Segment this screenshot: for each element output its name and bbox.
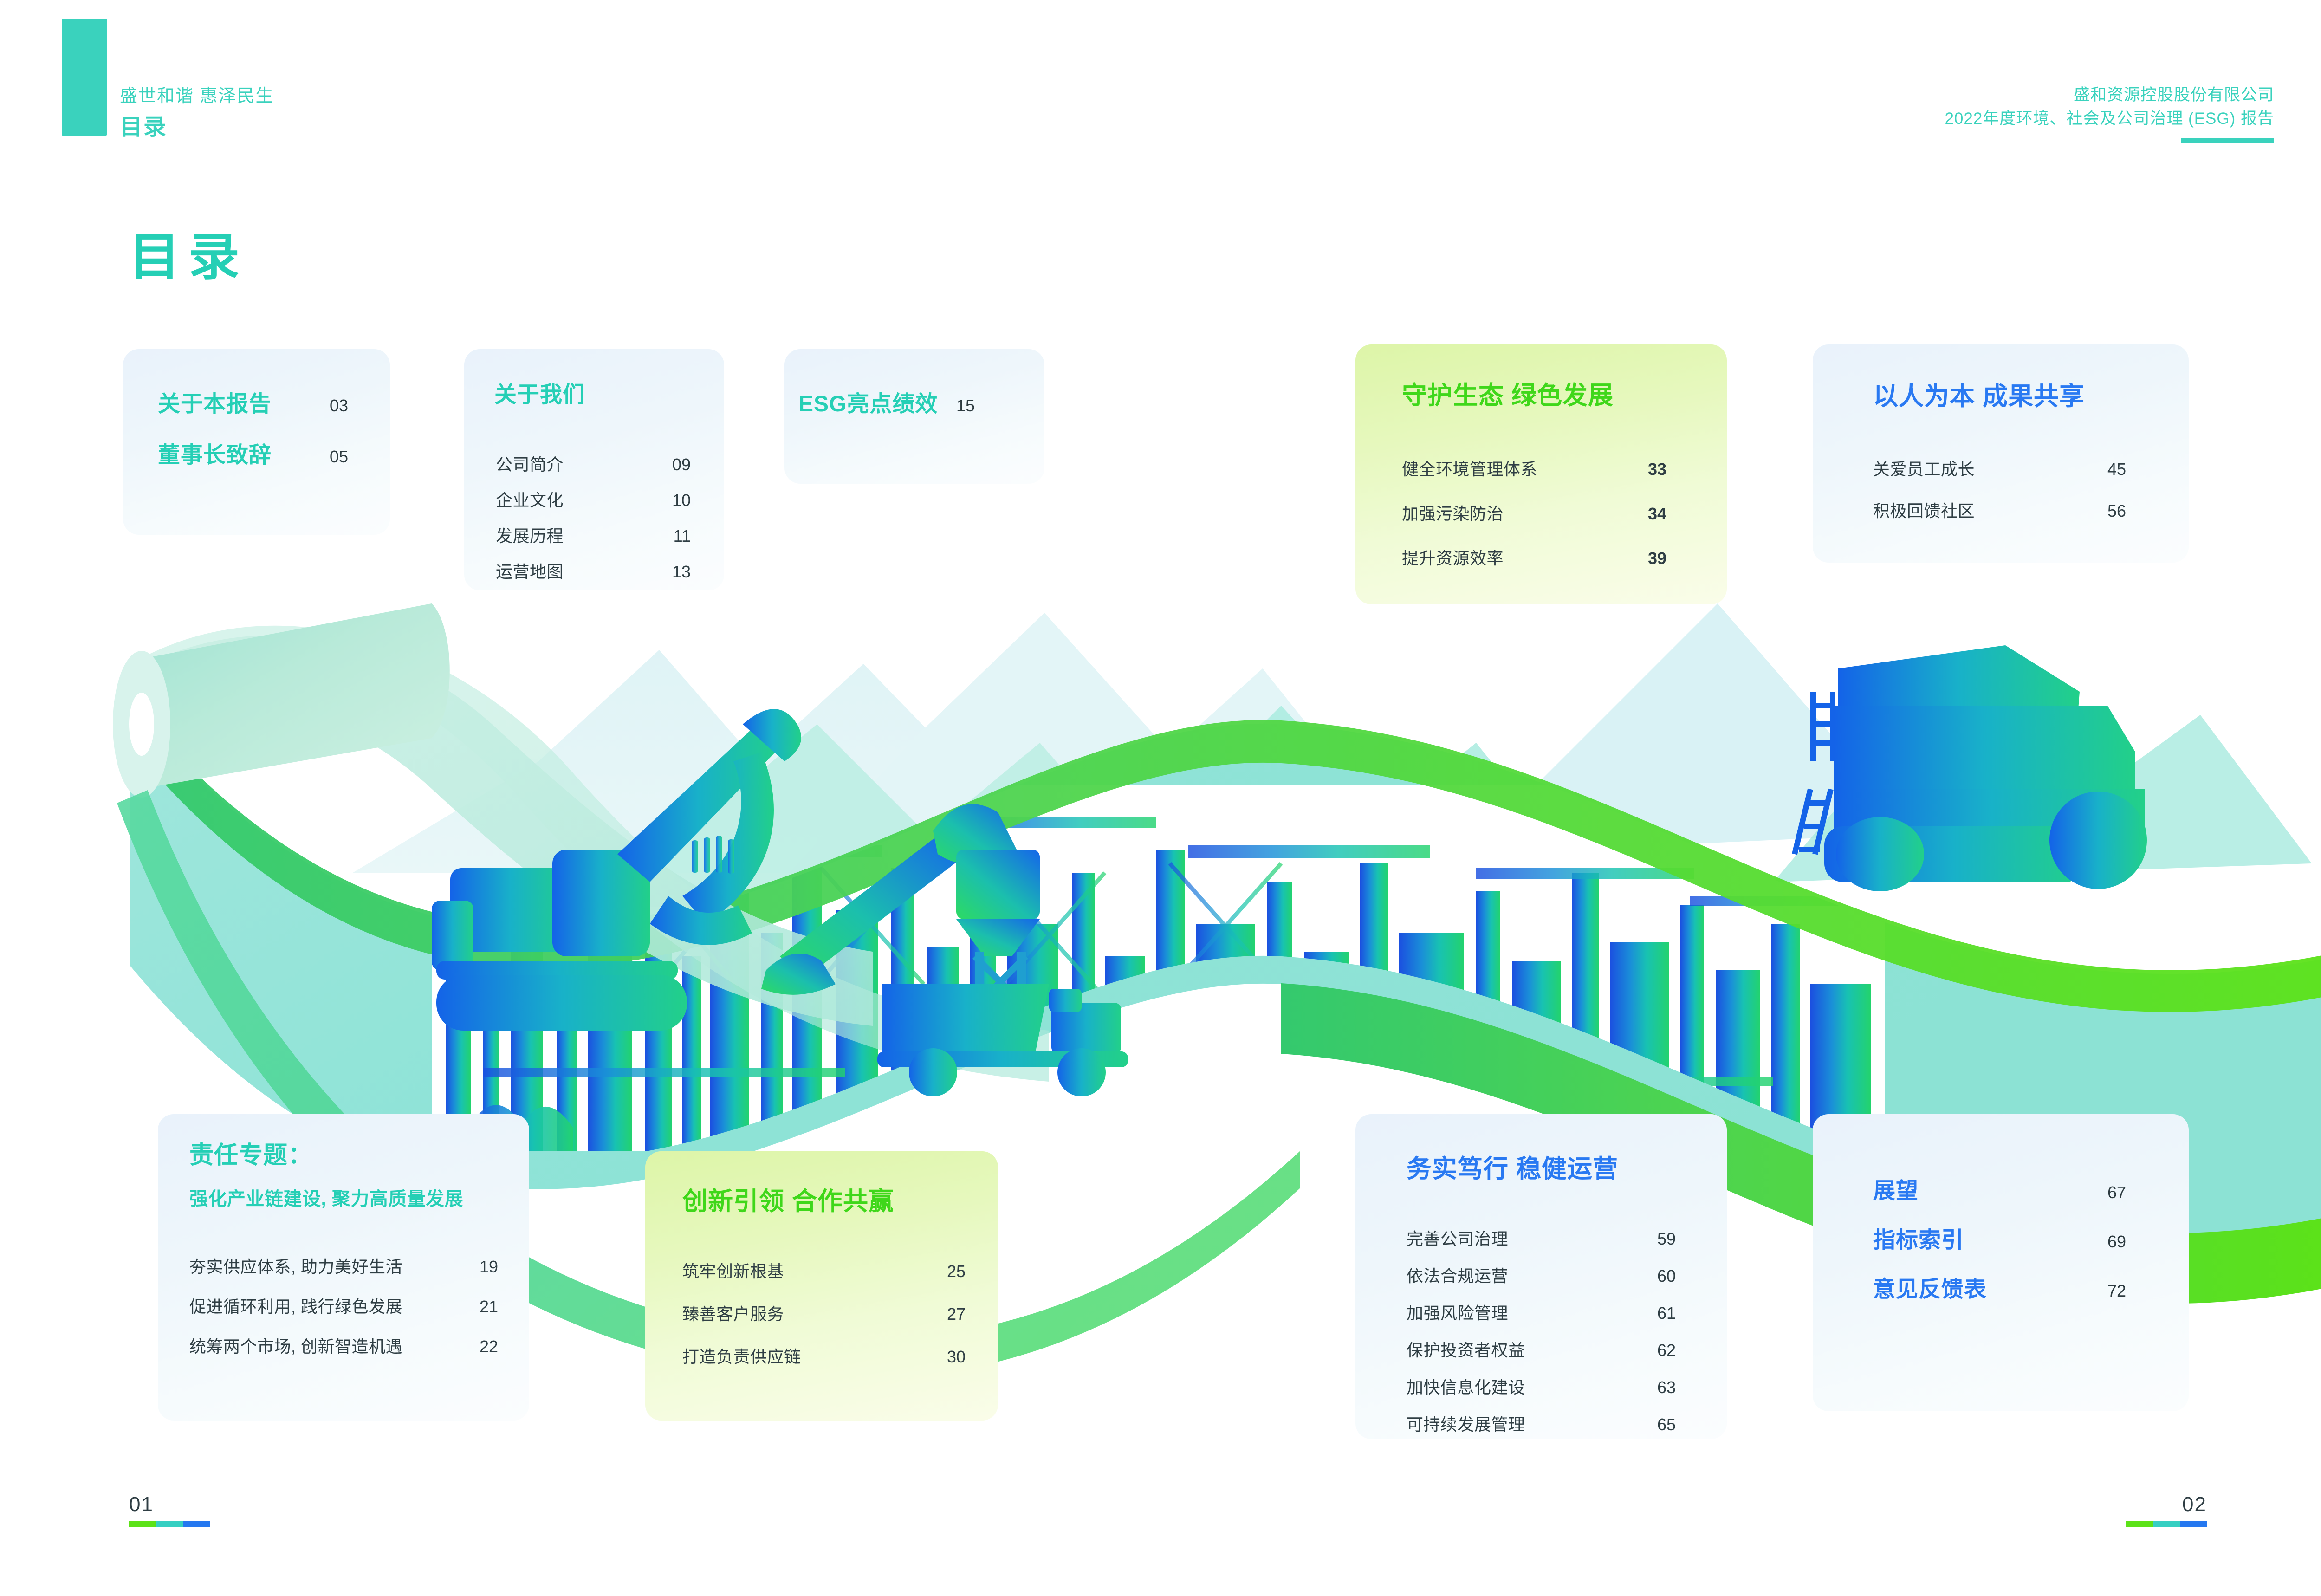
entry-list: 健全环境管理体系 33 加强污染防治 34 提升资源效率 39 bbox=[1402, 456, 1676, 569]
entry-page: 25 bbox=[910, 1262, 966, 1281]
header-kicker: 盛世和谐 惠泽民生 bbox=[120, 87, 274, 105]
entry-page: 63 bbox=[1620, 1378, 1676, 1397]
toc-entry[interactable]: 保护投资者权益 62 bbox=[1407, 1337, 1676, 1361]
entry-title: 提升资源效率 bbox=[1402, 545, 1615, 569]
toc-entry[interactable]: 健全环境管理体系 33 bbox=[1402, 456, 1676, 480]
toc-entry[interactable]: 筑牢创新根基 25 bbox=[682, 1258, 966, 1282]
toc-card-outlook[interactable]: 展望 67 指标索引 69 意见反馈表 72 bbox=[1813, 1114, 2189, 1411]
entry-list: 筑牢创新根基 25 臻善客户服务 27 打造负责供应链 30 bbox=[682, 1258, 966, 1368]
toc-page: 盛世和谐 惠泽民生 目录 盛和资源控股股份有限公司 2022年度环境、社会及公司… bbox=[0, 0, 2321, 1596]
running-header-right: 盛和资源控股股份有限公司 2022年度环境、社会及公司治理 (ESG) 报告 bbox=[1945, 84, 2274, 143]
header-section-name: 目录 bbox=[120, 116, 274, 139]
toc-entry[interactable]: 关爱员工成长 45 bbox=[1873, 456, 2126, 480]
entry-page: 60 bbox=[1620, 1266, 1676, 1286]
entry-page: 33 bbox=[1615, 460, 1666, 479]
toc-entry[interactable]: 发展历程 11 bbox=[496, 523, 695, 547]
entry-title: 董事长致辞 bbox=[158, 436, 297, 469]
toc-entry[interactable]: 企业文化 10 bbox=[496, 487, 695, 511]
toc-card-about-report[interactable]: 关于本报告 03 董事长致辞 05 bbox=[123, 349, 390, 535]
toc-entry[interactable]: 依法合规运营 60 bbox=[1407, 1263, 1676, 1287]
dump-truck-icon bbox=[877, 984, 1128, 1096]
entry-list: 完善公司治理 59 依法合规运营 60 加强风险管理 61 保护投资者权益 62… bbox=[1407, 1226, 1676, 1435]
card-title: 务实笃行 稳健运营 bbox=[1407, 1155, 1618, 1183]
page-title: 目录 bbox=[129, 232, 248, 283]
header-underline bbox=[2181, 138, 2274, 143]
entry-page: 27 bbox=[910, 1304, 966, 1324]
folio-color-bar bbox=[2126, 1521, 2207, 1527]
entry-page: 65 bbox=[1620, 1415, 1676, 1434]
page-number: 02 bbox=[2126, 1494, 2207, 1515]
toc-entry[interactable]: 臻善客户服务 27 bbox=[682, 1301, 966, 1325]
card-title: 关于我们 bbox=[494, 383, 585, 408]
entry-page: 69 bbox=[2068, 1232, 2126, 1252]
entry-title: 企业文化 bbox=[496, 487, 640, 511]
toc-card-people-first[interactable]: 以人为本 成果共享 关爱员工成长 45 积极回馈社区 56 bbox=[1813, 344, 2189, 563]
entry-list: 夯实供应体系, 助力美好生活 19 促进循环利用, 践行绿色发展 21 统筹两个… bbox=[189, 1253, 498, 1357]
entry-page: 13 bbox=[640, 562, 691, 582]
entry-title: 统筹两个市场, 创新智造机遇 bbox=[189, 1333, 449, 1357]
entry-title: 保护投资者权益 bbox=[1407, 1337, 1620, 1361]
entry-title: 关于本报告 bbox=[158, 385, 297, 418]
entry-title: 运营地图 bbox=[496, 558, 640, 583]
entry-page: 45 bbox=[2068, 460, 2126, 479]
running-header-left: 盛世和谐 惠泽民生 目录 bbox=[120, 87, 274, 139]
entry-title: 加快信息化建设 bbox=[1407, 1374, 1620, 1398]
toc-entry[interactable]: 指标索引 69 bbox=[1873, 1221, 2126, 1254]
entry-page: 11 bbox=[640, 526, 691, 546]
entry-title: 加强污染防治 bbox=[1402, 500, 1615, 525]
toc-entry[interactable]: 董事长致辞 05 bbox=[158, 436, 357, 469]
entry-title: 加强风险管理 bbox=[1407, 1300, 1620, 1324]
entry-page: 59 bbox=[1620, 1229, 1676, 1249]
toc-card-responsibility-topic[interactable]: 责任专题： 强化产业链建设, 聚力高质量发展 夯实供应体系, 助力美好生活 19… bbox=[158, 1114, 529, 1421]
entry-page: 67 bbox=[2068, 1183, 2126, 1202]
toc-entry[interactable]: 展望 67 bbox=[1873, 1172, 2126, 1205]
card-subtitle: 强化产业链建设, 聚力高质量发展 bbox=[189, 1184, 463, 1211]
toc-entry[interactable]: 运营地图 13 bbox=[496, 558, 695, 583]
entry-title: 可持续发展管理 bbox=[1407, 1411, 1620, 1435]
entry-page: 15 bbox=[956, 396, 998, 415]
toc-entry[interactable]: 意见反馈表 72 bbox=[1873, 1271, 2126, 1303]
entry-title: 筑牢创新根基 bbox=[682, 1258, 910, 1282]
card-title: 责任专题： bbox=[189, 1142, 312, 1169]
entry-title: ESG亮点绩效 bbox=[798, 385, 956, 418]
entry-list: 关爱员工成长 45 积极回馈社区 56 bbox=[1873, 456, 2126, 522]
card-title: 创新引领 合作共赢 bbox=[682, 1187, 894, 1215]
entry-page: 30 bbox=[910, 1347, 966, 1367]
toc-card-innovation-winwin[interactable]: 创新引领 合作共赢 筑牢创新根基 25 臻善客户服务 27 打造负责供应链 30 bbox=[645, 1151, 998, 1421]
entry-page: 39 bbox=[1615, 549, 1666, 568]
entry-page: 10 bbox=[640, 491, 691, 510]
entry-title: 健全环境管理体系 bbox=[1402, 456, 1615, 480]
toc-card-about-us[interactable]: 关于我们 公司简介 09 企业文化 10 发展历程 11 运营地图 13 企业荣… bbox=[464, 349, 724, 590]
folio-color-bar bbox=[129, 1521, 210, 1527]
entry-title: 关爱员工成长 bbox=[1873, 456, 2068, 480]
entry-title: 积极回馈社区 bbox=[1873, 498, 2068, 522]
entry-page: 03 bbox=[297, 396, 348, 415]
entry-list: ESG亮点绩效 15 bbox=[798, 385, 1031, 418]
entry-list: 公司简介 09 企业文化 10 发展历程 11 运营地图 13 企业荣誉 14 bbox=[496, 451, 695, 590]
card-title: 守护生态 绿色发展 bbox=[1402, 382, 1614, 409]
entry-title: 打造负责供应链 bbox=[682, 1343, 910, 1368]
entry-title: 意见反馈表 bbox=[1873, 1271, 2068, 1303]
excavator-icon bbox=[432, 709, 801, 1031]
entry-title: 完善公司治理 bbox=[1407, 1226, 1620, 1250]
entry-title: 依法合规运营 bbox=[1407, 1263, 1620, 1287]
entry-title: 夯实供应体系, 助力美好生活 bbox=[189, 1253, 449, 1278]
toc-entry[interactable]: 加强风险管理 61 bbox=[1407, 1300, 1676, 1324]
footer-page-left: 01 bbox=[129, 1494, 210, 1527]
entry-title: 指标索引 bbox=[1873, 1221, 2068, 1254]
entry-title: 公司简介 bbox=[496, 451, 640, 475]
mining-haul-truck-icon bbox=[1795, 645, 2147, 891]
entry-page: 22 bbox=[449, 1337, 498, 1356]
toc-entry[interactable]: 公司简介 09 bbox=[496, 451, 695, 475]
toc-entry[interactable]: ESG亮点绩效 15 bbox=[798, 385, 1031, 418]
entry-title: 促进循环利用, 践行绿色发展 bbox=[189, 1293, 449, 1317]
toc-entry[interactable]: 夯实供应体系, 助力美好生活 19 bbox=[189, 1253, 498, 1278]
toc-entry[interactable]: 打造负责供应链 30 bbox=[682, 1343, 966, 1368]
toc-card-esg-highlights[interactable]: ESG亮点绩效 15 bbox=[784, 349, 1044, 484]
toc-entry[interactable]: 促进循环利用, 践行绿色发展 21 bbox=[189, 1293, 498, 1317]
toc-entry[interactable]: 统筹两个市场, 创新智造机遇 22 bbox=[189, 1333, 498, 1357]
header-company-name: 盛和资源控股股份有限公司 bbox=[1945, 84, 2274, 107]
footer-page-right: 02 bbox=[2126, 1494, 2207, 1527]
header-accent-bar bbox=[62, 19, 107, 136]
entry-page: 21 bbox=[449, 1297, 498, 1317]
toc-entry[interactable]: 加强污染防治 34 bbox=[1402, 500, 1676, 525]
toc-entry[interactable]: 可持续发展管理 65 bbox=[1407, 1411, 1676, 1435]
entry-page: 09 bbox=[640, 455, 691, 474]
entry-page: 61 bbox=[1620, 1304, 1676, 1323]
toc-entry[interactable]: 完善公司治理 59 bbox=[1407, 1226, 1676, 1250]
entry-page: 05 bbox=[297, 447, 348, 467]
toc-card-eco-green[interactable]: 守护生态 绿色发展 健全环境管理体系 33 加强污染防治 34 提升资源效率 3… bbox=[1355, 344, 1727, 604]
toc-entry[interactable]: 关于本报告 03 bbox=[158, 385, 357, 418]
toc-entry[interactable]: 加快信息化建设 63 bbox=[1407, 1374, 1676, 1398]
entry-page: 56 bbox=[2068, 501, 2126, 521]
entry-list: 展望 67 指标索引 69 意见反馈表 72 bbox=[1873, 1172, 2126, 1303]
toc-entry[interactable]: 提升资源效率 39 bbox=[1402, 545, 1676, 569]
entry-page: 34 bbox=[1615, 504, 1666, 524]
entry-list: 关于本报告 03 董事长致辞 05 bbox=[158, 385, 357, 469]
page-number: 01 bbox=[129, 1494, 210, 1515]
toc-card-steady-operation[interactable]: 务实笃行 稳健运营 完善公司治理 59 依法合规运营 60 加强风险管理 61 … bbox=[1355, 1114, 1727, 1439]
card-title: 以人为本 成果共享 bbox=[1873, 383, 2085, 410]
entry-page: 19 bbox=[449, 1257, 498, 1277]
header-report-name: 2022年度环境、社会及公司治理 (ESG) 报告 bbox=[1945, 107, 2274, 131]
entry-page: 72 bbox=[2068, 1281, 2126, 1301]
entry-title: 展望 bbox=[1873, 1172, 2068, 1205]
entry-title: 臻善客户服务 bbox=[682, 1301, 910, 1325]
conveyor-loader-icon bbox=[761, 804, 1040, 1007]
entry-page: 62 bbox=[1620, 1341, 1676, 1360]
mountain-range-icon bbox=[353, 603, 2312, 910]
entry-title: 发展历程 bbox=[496, 523, 640, 547]
toc-entry[interactable]: 积极回馈社区 56 bbox=[1873, 498, 2126, 522]
